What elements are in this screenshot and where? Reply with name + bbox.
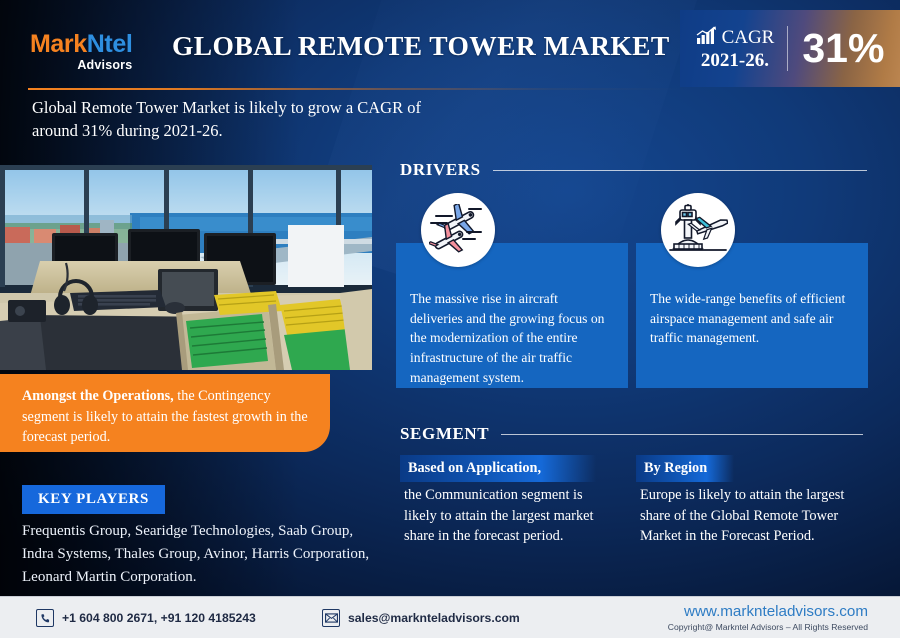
segment-label-application: Based on Application, <box>400 455 596 482</box>
footer-email-text: sales@marknteladvisors.com <box>348 611 520 625</box>
segment-heading-rule <box>501 434 863 435</box>
footer-phone[interactable]: +1 604 800 2671, +91 120 4185243 <box>36 609 256 627</box>
header: MarkNtel Advisors GLOBAL REMOTE TOWER MA… <box>0 0 900 88</box>
logo-wordmark: MarkNtel <box>30 32 132 57</box>
segment-text-application: the Communication segment is likely to a… <box>404 485 604 547</box>
driver-text-1: The massive rise in aircraft deliveries … <box>410 291 604 385</box>
logo-mark-text: Mark <box>30 30 87 58</box>
header-divider <box>28 88 876 90</box>
brand-logo[interactable]: MarkNtel Advisors <box>30 32 132 72</box>
footer: +1 604 800 2671, +91 120 4185243 sales@m… <box>0 596 900 638</box>
phone-icon <box>36 609 54 627</box>
drivers-heading: DRIVERS <box>400 160 867 180</box>
operations-callout-bold: Amongst the Operations, <box>22 388 174 404</box>
driver-text-2: The wide-range benefits of efficient air… <box>650 291 845 345</box>
two-airplanes-icon <box>421 193 495 267</box>
page-title: GLOBAL REMOTE TOWER MARKET <box>172 30 670 62</box>
cagr-value: 31% <box>788 28 884 69</box>
cagr-badge: CAGR 2021-26. 31% <box>680 10 900 87</box>
driver-card-1: The massive rise in aircraft deliveries … <box>396 243 628 388</box>
envelope-icon <box>322 609 340 627</box>
segment-text-region: Europe is likely to attain the largest s… <box>640 485 850 547</box>
segment-heading-label: SEGMENT <box>400 424 489 444</box>
bar-chart-growth-icon <box>696 26 717 50</box>
segment-label-region: By Region <box>636 455 734 482</box>
footer-email[interactable]: sales@marknteladvisors.com <box>322 609 520 627</box>
control-tower-photo <box>0 165 372 370</box>
drivers-heading-label: DRIVERS <box>400 160 481 180</box>
segment-heading: SEGMENT <box>400 424 863 444</box>
footer-website-block[interactable]: www.marknteladvisors.com Copyright@ Mark… <box>668 603 868 632</box>
cagr-label-group: CAGR 2021-26. <box>696 26 789 72</box>
subtitle-text: Global Remote Tower Market is likely to … <box>32 96 462 143</box>
cagr-label: CAGR <box>722 27 775 48</box>
drivers-heading-rule <box>493 170 867 171</box>
logo-ntel-text: Ntel <box>87 30 133 58</box>
driver-card-2: The wide-range benefits of efficient air… <box>636 243 868 388</box>
key-players-badge: KEY PLAYERS <box>22 485 165 514</box>
footer-copyright: Copyright@ Markntel Advisors – All Right… <box>668 622 868 632</box>
key-players-list: Frequentis Group, Searidge Technologies,… <box>22 520 372 588</box>
infographic-poster: MarkNtel Advisors GLOBAL REMOTE TOWER MA… <box>0 0 900 638</box>
cagr-label-row: CAGR <box>696 26 775 50</box>
control-tower-airplane-icon <box>661 193 735 267</box>
cagr-period: 2021-26. <box>696 50 775 71</box>
footer-phone-text: +1 604 800 2671, +91 120 4185243 <box>62 611 256 625</box>
logo-subtitle: Advisors <box>30 59 132 72</box>
operations-callout: Amongst the Operations, the Contingency … <box>0 374 330 452</box>
footer-website[interactable]: www.marknteladvisors.com <box>668 603 868 620</box>
